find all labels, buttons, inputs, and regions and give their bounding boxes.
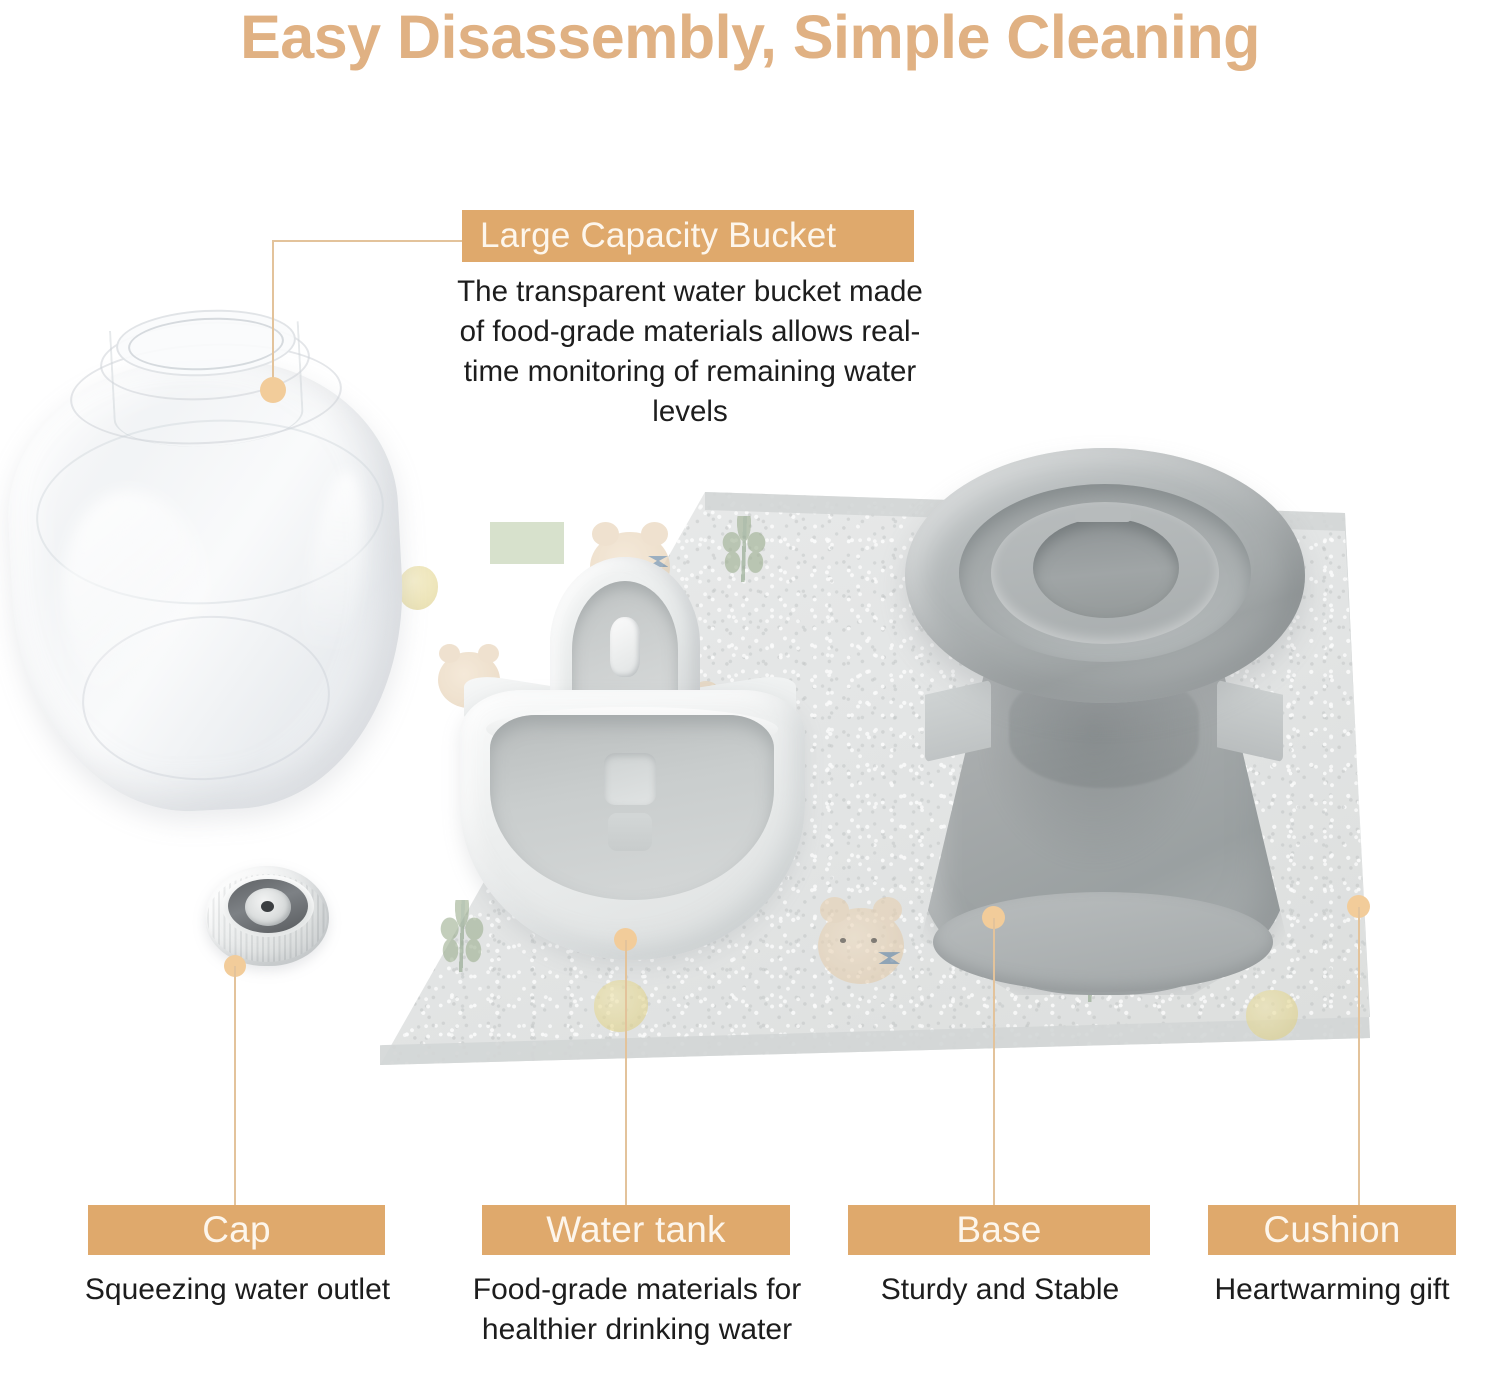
callout-chip-cushion[interactable]: Cushion — [1208, 1205, 1456, 1255]
bear-motif — [818, 908, 904, 984]
leader-dot-bucket — [260, 377, 286, 403]
base-bottom-rim — [933, 892, 1273, 992]
callout-chip-water-tank[interactable]: Water tank — [482, 1205, 790, 1255]
tank-tab — [604, 753, 656, 805]
callout-desc-cushion: Heartwarming gift — [1186, 1270, 1478, 1310]
leader-line-water-tank — [625, 940, 627, 1206]
tank-nozzle — [610, 617, 640, 677]
leader-line-cushion — [1358, 907, 1360, 1206]
page-title: Easy Disassembly, Simple Cleaning — [0, 2, 1500, 72]
callout-chip-water-tank-label: Water tank — [546, 1209, 726, 1251]
tank-tab-lower — [608, 813, 652, 851]
cap-part — [205, 866, 329, 974]
callout-chip-bucket[interactable]: Large Capacity Bucket — [462, 210, 914, 262]
callout-chip-base[interactable]: Base — [848, 1205, 1150, 1255]
leader-line-bucket-vertical — [272, 240, 274, 388]
callout-chip-cap[interactable]: Cap — [88, 1205, 385, 1255]
callout-desc-bucket: The transparent water bucket made of foo… — [450, 272, 930, 432]
base-center-hole — [1033, 518, 1179, 618]
water-tank-part — [452, 555, 812, 975]
leader-line-bucket-horizontal — [273, 240, 463, 242]
base-notch — [1075, 508, 1131, 522]
callout-chip-base-label: Base — [956, 1209, 1041, 1251]
base-part — [905, 440, 1310, 1000]
callout-desc-base: Sturdy and Stable — [830, 1270, 1170, 1310]
callout-desc-cap: Squeezing water outlet — [50, 1270, 425, 1310]
callout-chip-cushion-label: Cushion — [1263, 1209, 1400, 1251]
callout-desc-water-tank: Food-grade materials for healthier drink… — [452, 1270, 822, 1350]
infographic-canvas: Easy Disassembly, Simple Cleaning — [0, 0, 1500, 1380]
leader-line-cap — [234, 966, 236, 1206]
leader-line-base — [993, 918, 995, 1206]
water-bucket — [8, 300, 408, 810]
cap-outlet-hole — [261, 901, 274, 912]
callout-chip-cap-label: Cap — [202, 1209, 270, 1251]
callout-chip-bucket-label: Large Capacity Bucket — [480, 216, 836, 256]
